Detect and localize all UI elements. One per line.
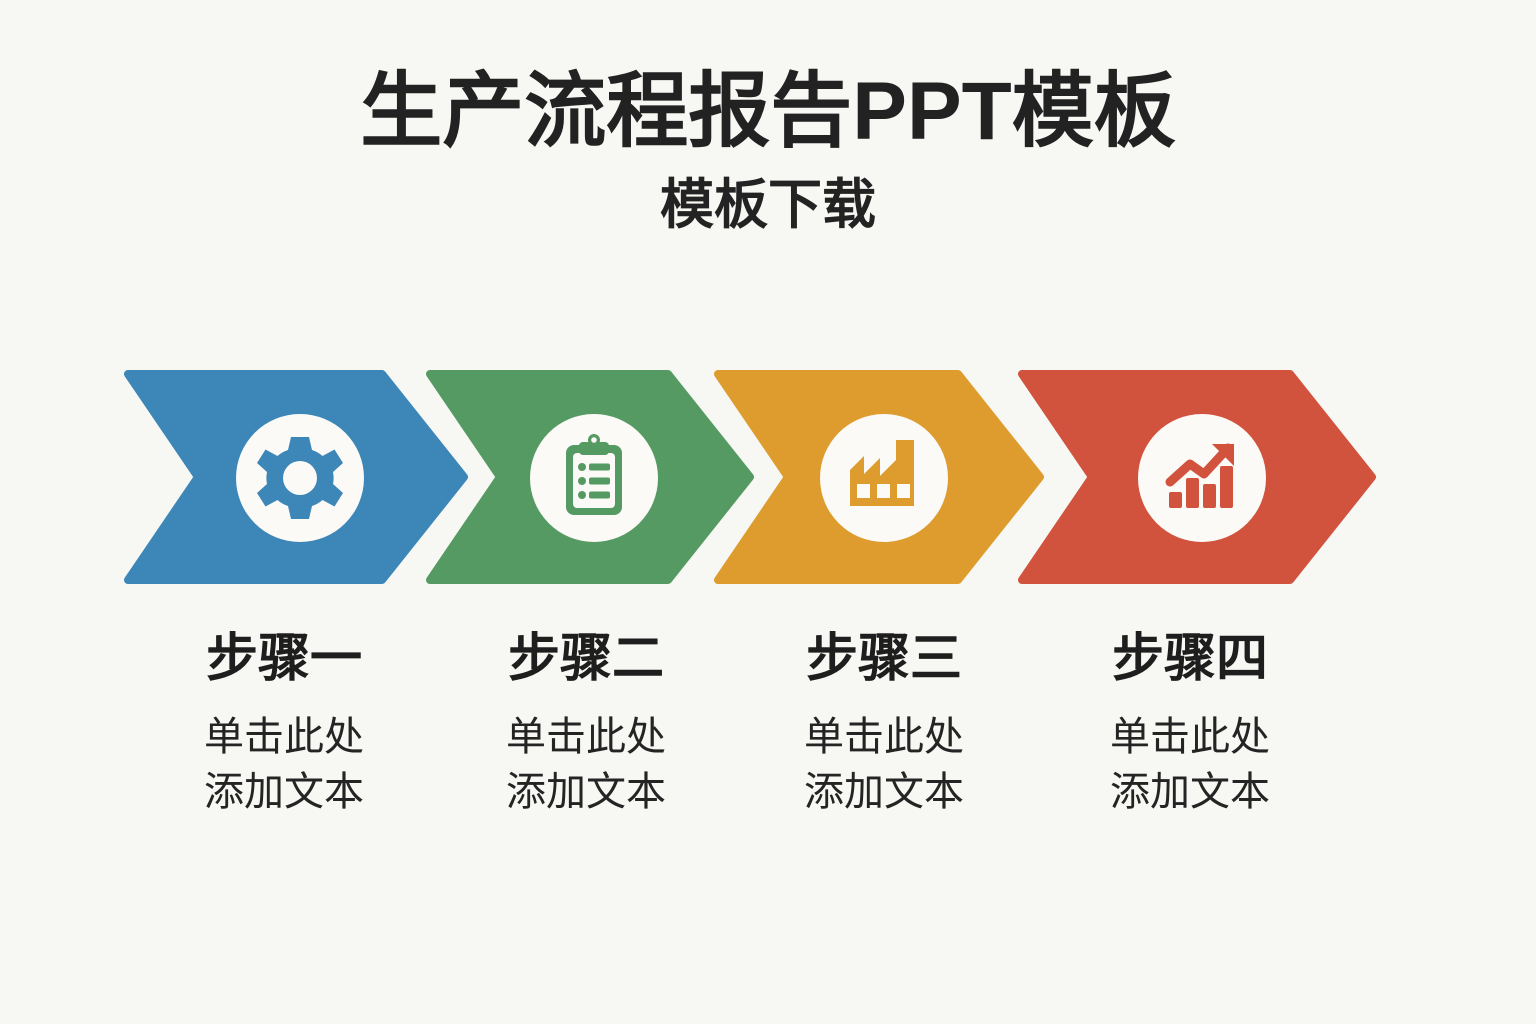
step-caption-title: 步骤三 — [734, 630, 1034, 688]
slide-canvas: 生产流程报告PPT模板 模板下载 — [0, 0, 1536, 1024]
step-caption-title: 步骤二 — [436, 630, 736, 688]
step-caption-body: 单击此处 添加文本 — [436, 710, 736, 819]
process-step-4[interactable] — [1018, 368, 1376, 586]
clipboard-checklist-icon — [566, 434, 622, 515]
process-step-3[interactable] — [714, 368, 1044, 586]
process-step-2[interactable] — [426, 368, 754, 586]
step-caption-body-line1: 单击此处 — [734, 710, 1034, 764]
step-caption-1: 步骤一 单击此处 添加文本 — [134, 630, 434, 819]
slide-header: 生产流程报告PPT模板 模板下载 — [0, 70, 1536, 235]
step-caption-2: 步骤二 单击此处 添加文本 — [436, 630, 736, 819]
step-icon-badge-2 — [426, 368, 754, 586]
step-caption-body-line1: 单击此处 — [1040, 710, 1340, 764]
step-caption-body: 单击此处 添加文本 — [1040, 710, 1340, 819]
process-chevron-row — [124, 368, 1376, 586]
step-caption-4: 步骤四 单击此处 添加文本 — [1040, 630, 1340, 819]
step-caption-body-line1: 单击此处 — [436, 710, 736, 764]
step-caption-body-line2: 添加文本 — [734, 765, 1034, 819]
step-caption-body-line2: 添加文本 — [1040, 765, 1340, 819]
page-title: 生产流程报告PPT模板 — [0, 70, 1536, 154]
step-caption-body-line1: 单击此处 — [134, 710, 434, 764]
step-icon-badge-4 — [1018, 368, 1376, 586]
step-caption-body: 单击此处 添加文本 — [734, 710, 1034, 819]
step-icon-badge-3 — [714, 368, 1044, 586]
step-caption-body-line2: 添加文本 — [436, 765, 736, 819]
step-icon-badge-1 — [124, 368, 468, 586]
page-subtitle: 模板下载 — [0, 176, 1536, 235]
step-caption-title: 步骤四 — [1040, 630, 1340, 688]
step-captions-row: 步骤一 单击此处 添加文本 步骤二 单击此处 添加文本 步骤三 单击此处 添加文… — [124, 630, 1388, 890]
step-caption-body: 单击此处 添加文本 — [134, 710, 434, 819]
step-caption-3: 步骤三 单击此处 添加文本 — [734, 630, 1034, 819]
step-caption-title: 步骤一 — [134, 630, 434, 688]
process-step-1[interactable] — [124, 368, 468, 586]
step-caption-body-line2: 添加文本 — [134, 765, 434, 819]
